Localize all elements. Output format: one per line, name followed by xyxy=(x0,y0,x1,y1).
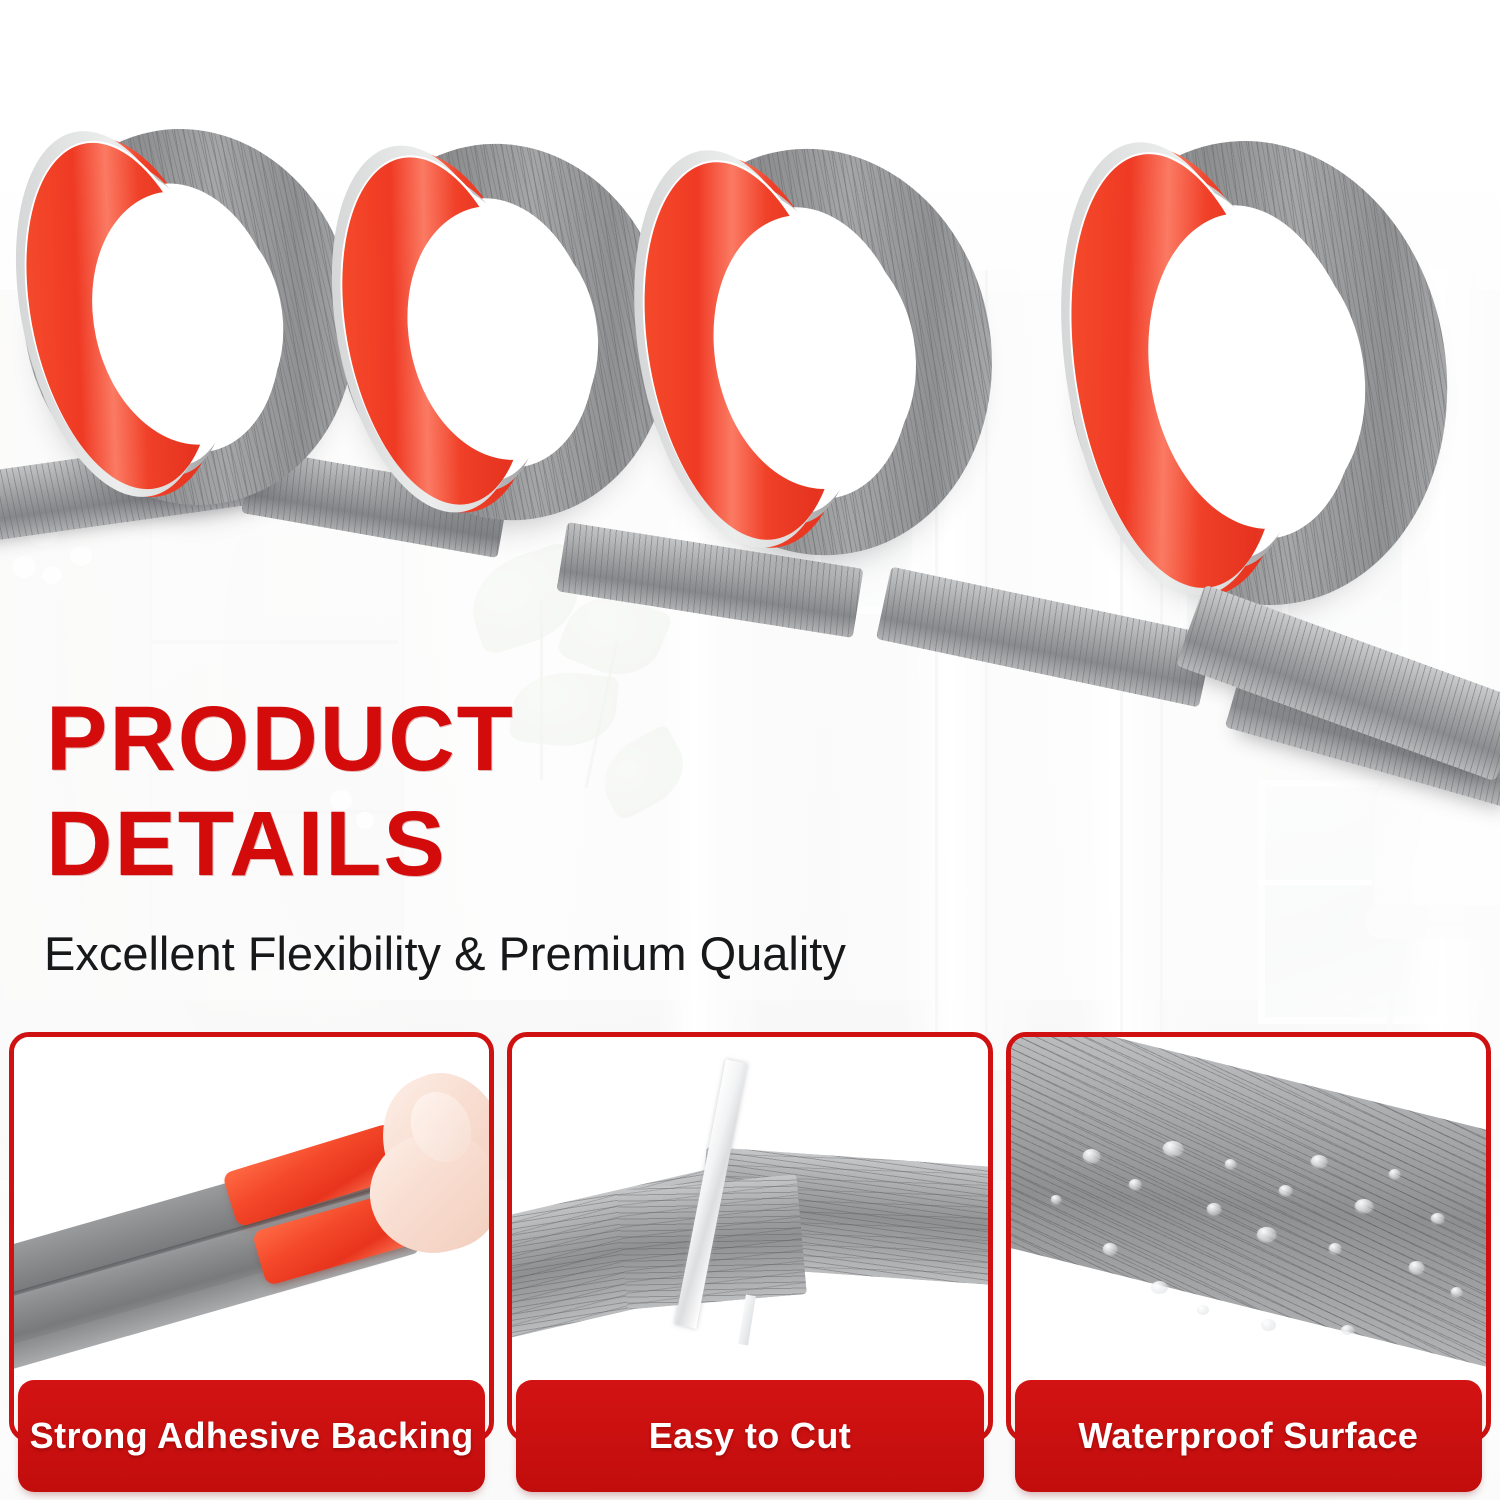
water-droplet xyxy=(1129,1179,1141,1189)
photo-strong-adhesive xyxy=(14,1037,489,1437)
feature-card-adhesive[interactable]: Strong Adhesive Backing xyxy=(9,1032,494,1492)
water-droplet xyxy=(1051,1195,1061,1203)
water-droplet xyxy=(1409,1261,1424,1273)
headline-line-2: DETAILS xyxy=(46,797,515,892)
product-coil-1 xyxy=(10,120,370,520)
cutting-blade-tip xyxy=(738,1295,756,1346)
water-droplet xyxy=(1261,1319,1276,1331)
water-droplet xyxy=(1355,1199,1373,1212)
product-details-infographic: PRODUCT DETAILS Excellent Flexibility & … xyxy=(0,0,1500,1500)
feature-card-row: Strong Adhesive Backing Easy to Cut xyxy=(0,1032,1500,1500)
water-droplet xyxy=(1431,1213,1444,1223)
feature-card-easy-to-cut[interactable]: Easy to Cut xyxy=(507,1032,992,1492)
water-droplet xyxy=(1279,1185,1292,1195)
feature-card-waterproof[interactable]: Waterproof Surface xyxy=(1006,1032,1491,1492)
photo-waterproof xyxy=(1011,1037,1486,1437)
product-coil-4 xyxy=(1050,130,1460,620)
card-caption-bar: Strong Adhesive Backing xyxy=(18,1380,485,1492)
water-droplet xyxy=(1103,1243,1117,1254)
water-droplet xyxy=(1257,1227,1276,1241)
water-droplet xyxy=(1197,1305,1209,1315)
headline-block: PRODUCT DETAILS xyxy=(46,692,515,892)
water-droplet xyxy=(1311,1155,1327,1167)
headline-line-1: PRODUCT xyxy=(46,692,515,787)
product-coil-3 xyxy=(625,140,1005,570)
water-droplet xyxy=(1225,1159,1236,1168)
card-caption-bar: Waterproof Surface xyxy=(1015,1380,1482,1492)
water-droplet xyxy=(1163,1141,1183,1155)
water-droplet xyxy=(1151,1281,1168,1294)
hero-product-coils xyxy=(0,0,1500,800)
card-caption-text: Strong Adhesive Backing xyxy=(30,1415,474,1457)
card-caption-text: Waterproof Surface xyxy=(1078,1415,1418,1457)
water-droplet xyxy=(1451,1287,1462,1296)
card-caption-bar: Easy to Cut xyxy=(516,1380,983,1492)
water-droplet xyxy=(1083,1149,1100,1162)
card-caption-text: Easy to Cut xyxy=(649,1415,851,1457)
subheadline: Excellent Flexibility & Premium Quality xyxy=(44,925,846,983)
water-droplet xyxy=(1329,1243,1341,1253)
photo-easy-to-cut xyxy=(512,1037,987,1437)
strip-wet-surface xyxy=(1011,1037,1486,1379)
water-droplet xyxy=(1207,1203,1221,1214)
water-droplet xyxy=(1341,1325,1354,1335)
water-droplet xyxy=(1389,1169,1400,1178)
